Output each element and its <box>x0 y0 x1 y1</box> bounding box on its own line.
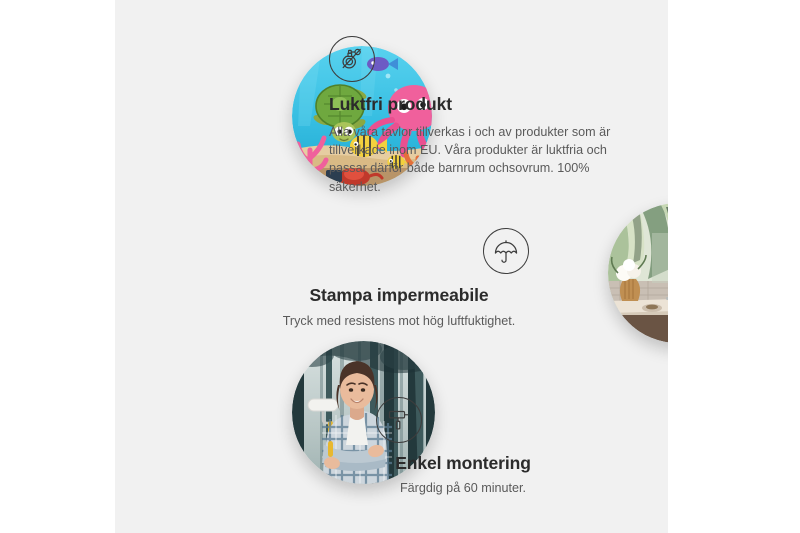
feature-icon-row <box>219 228 579 274</box>
feature-icon-row <box>328 397 598 443</box>
feature-title: Stampa impermeabile <box>219 285 579 307</box>
feature-title: Luktfri produkt <box>329 94 629 116</box>
photo-bathroom-tropical-wallpaper: Bathroom vanity with tropical green leaf… <box>608 203 668 343</box>
product-info-graphic: Underwater cartoon mural with sea turtle… <box>0 0 800 533</box>
feature-body: Färgdig på 60 minuter. <box>328 479 598 497</box>
feature-enkel-montering: Enkel montering Färgdig på 60 minuter. <box>328 397 598 497</box>
no-fragrance-icon <box>329 36 375 82</box>
feature-body: Alla våra tavlor tillverkas i och av pro… <box>329 123 629 196</box>
feature-stampa-impermeabile: Stampa impermeabile Tryck med resistens … <box>219 228 579 330</box>
feature-body: Tryck med resistens mot hög luftfuktighe… <box>219 312 579 330</box>
paint-roller-icon <box>376 397 422 443</box>
feature-panel: Underwater cartoon mural with sea turtle… <box>115 0 668 533</box>
feature-luktfri-produkt: Luktfri produkt Alla våra tavlor tillver… <box>329 36 629 196</box>
umbrella-icon <box>483 228 529 274</box>
feature-title: Enkel montering <box>328 453 598 475</box>
